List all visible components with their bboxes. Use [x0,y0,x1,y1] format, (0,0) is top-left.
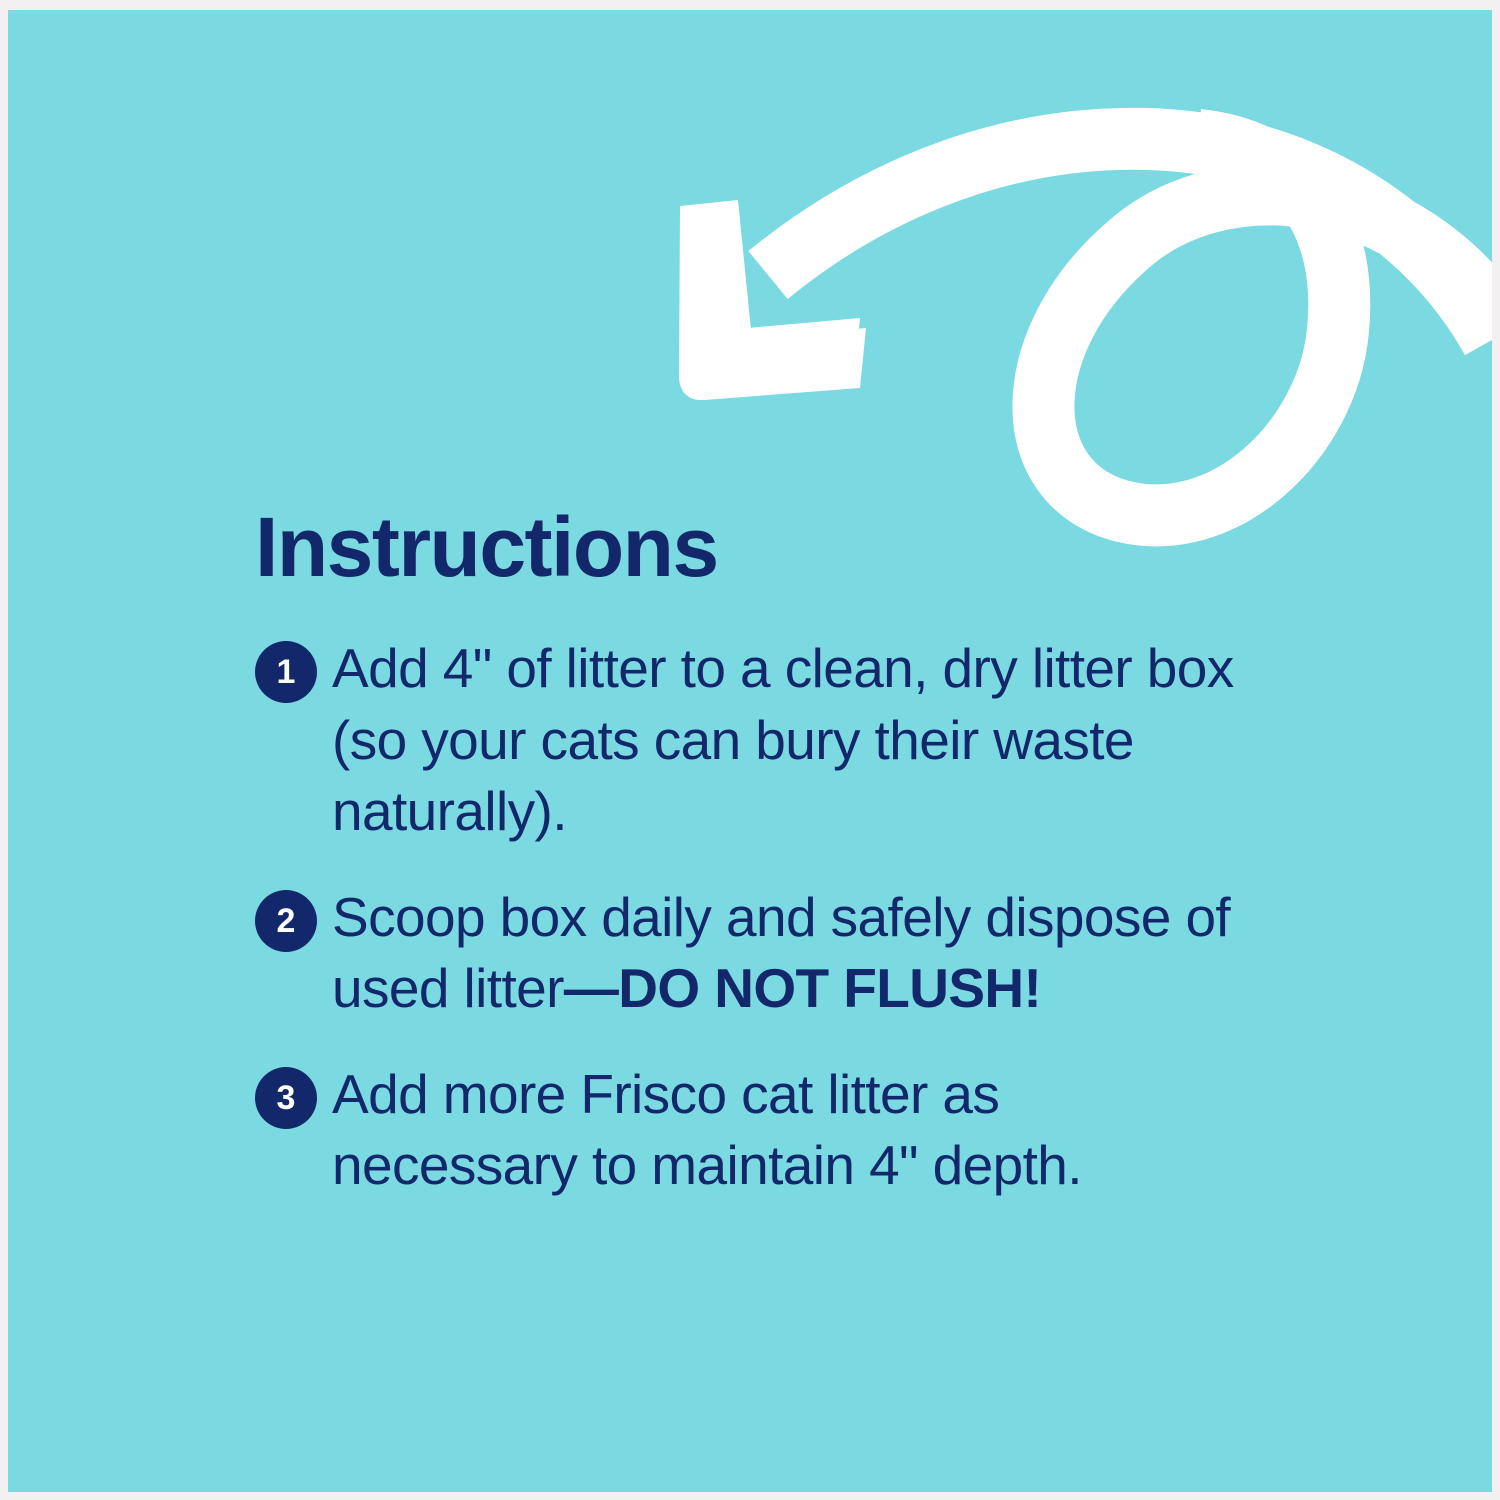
list-item: 1 Add 4" of litter to a clean, dry litte… [255,633,1315,848]
step-number-badge: 3 [255,1067,317,1129]
step-number-badge: 1 [255,641,317,703]
instructions-panel: Instructions 1 Add 4" of litter to a cle… [8,10,1492,1492]
step-text: Add more Frisco cat litter as necessary … [332,1059,1092,1202]
instructions-content: Instructions 1 Add 4" of litter to a cle… [255,505,1315,1202]
step-text: Add 4" of litter to a clean, dry litter … [332,633,1237,848]
step-text: Scoop box daily and safely dispose of us… [332,882,1237,1025]
step-text-emphasis: —DO NOT FLUSH! [564,957,1041,1019]
step-number-badge: 2 [255,890,317,952]
list-item: 3 Add more Frisco cat litter as necessar… [255,1059,1315,1202]
list-item: 2 Scoop box daily and safely dispose of … [255,882,1315,1025]
page-title: Instructions [255,505,1315,589]
image-canvas: Instructions 1 Add 4" of litter to a cle… [0,0,1500,1500]
